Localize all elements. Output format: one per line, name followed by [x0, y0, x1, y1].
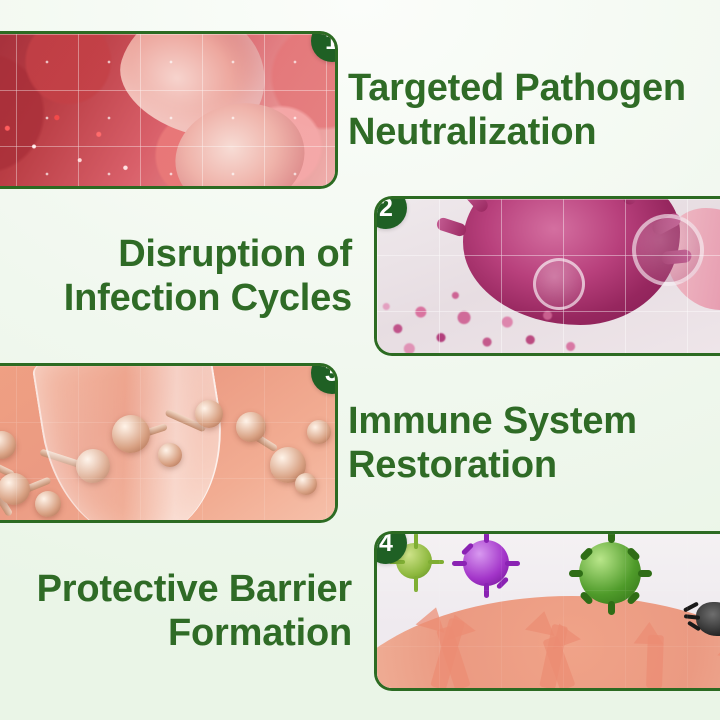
step-4-title-line-2: Formation — [168, 611, 352, 655]
step-4-image-card: 4 — [374, 531, 720, 691]
step-2-title-line-2: Infection Cycles — [64, 276, 352, 320]
step-row-2: Disruption of Infection Cycles — [0, 196, 720, 356]
grid-overlay — [0, 366, 335, 520]
step-2-artwork — [377, 199, 720, 353]
step-4-title-line-1: Protective Barrier — [37, 567, 352, 611]
step-3-title-line-2: Restoration — [348, 443, 557, 487]
step-1-title-line-2: Neutralization — [348, 110, 596, 154]
step-3-image-card: 3 — [0, 363, 338, 523]
grid-overlay — [0, 34, 335, 186]
step-1-image-card: 1 — [0, 31, 338, 189]
step-2-image-card: 2 — [374, 196, 720, 356]
step-4-artwork — [377, 534, 720, 688]
step-row-3: 3 Immune System Restoration — [0, 363, 720, 523]
step-2-title: Disruption of Infection Cycles — [0, 196, 358, 356]
step-3-title: Immune System Restoration — [348, 363, 720, 523]
grid-overlay — [377, 199, 720, 353]
grid-overlay — [377, 534, 720, 688]
step-3-artwork — [0, 366, 335, 520]
step-row-4: Protective Barrier Formation — [0, 531, 720, 691]
step-row-1: 1 Targeted Pathogen Neutralization — [0, 31, 720, 189]
step-1-title: Targeted Pathogen Neutralization — [348, 31, 720, 189]
step-4-title: Protective Barrier Formation — [0, 531, 358, 691]
step-1-artwork — [0, 34, 335, 186]
step-1-title-line-1: Targeted Pathogen — [348, 66, 686, 110]
infographic-stage: 1 Targeted Pathogen Neutralization Disru… — [0, 0, 720, 720]
step-2-title-line-1: Disruption of — [118, 232, 352, 276]
step-3-title-line-1: Immune System — [348, 399, 637, 443]
